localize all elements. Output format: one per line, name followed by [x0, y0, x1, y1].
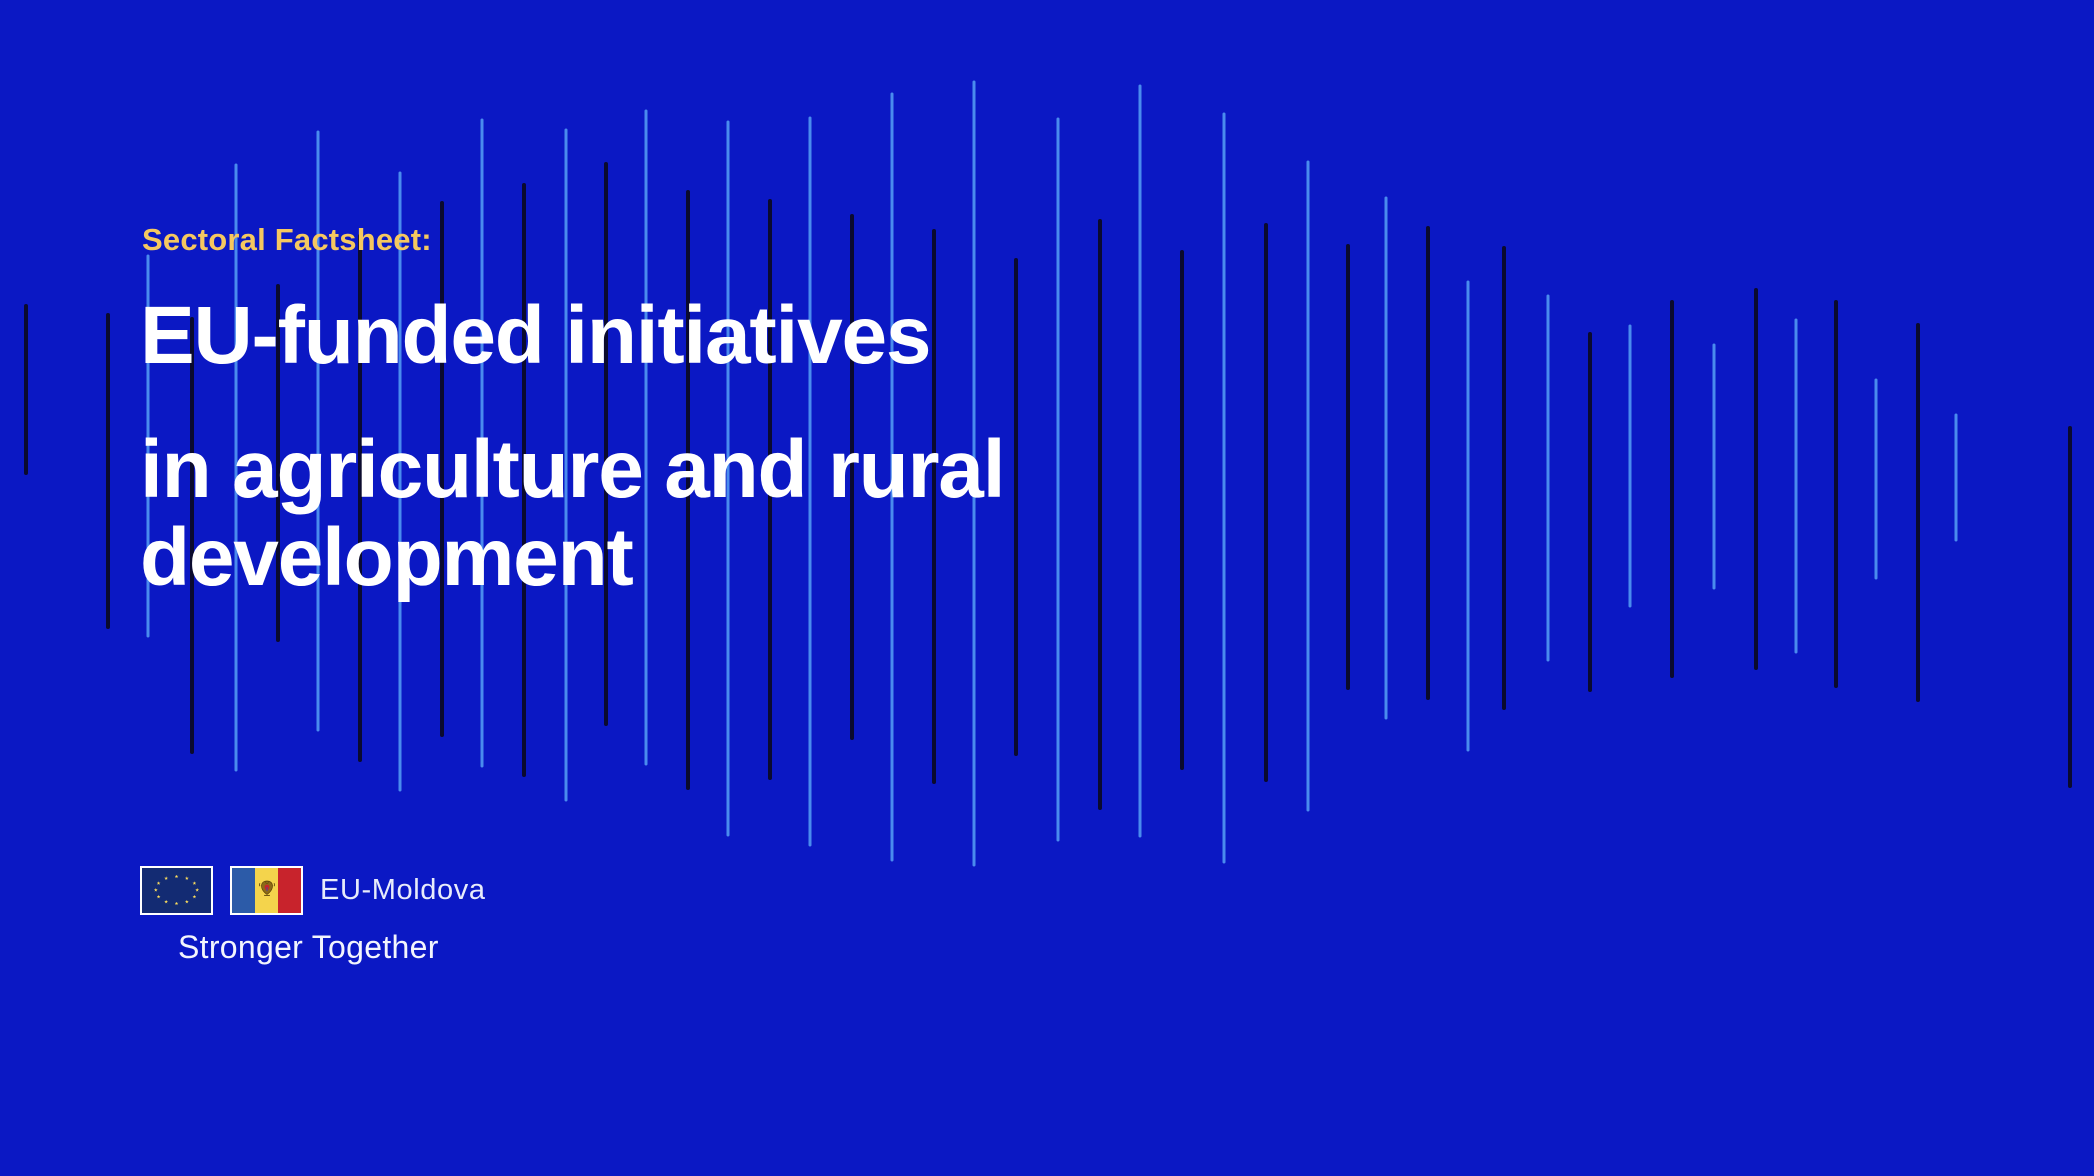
eu-flag-icon: [140, 866, 213, 915]
moldova-coat-of-arms-icon: [258, 880, 275, 900]
logo-tagline-label: Stronger Together: [178, 929, 660, 966]
page-title-line-3: development: [140, 517, 1540, 599]
eu-star-icon: [175, 902, 179, 906]
eu-star-icon: [185, 900, 189, 904]
eu-star-icon: [157, 895, 161, 899]
eu-star-icon: [154, 888, 158, 892]
eu-star-icon: [192, 881, 196, 885]
moldova-flag-icon: [230, 866, 303, 915]
eu-moldova-logo: EU-Moldova Stronger Together: [140, 864, 660, 966]
eyebrow-label: Sectoral Factsheet:: [142, 222, 432, 258]
eu-star-icon: [185, 876, 189, 880]
logo-row: EU-Moldova: [140, 864, 660, 916]
factsheet-cover-slide: Sectoral Factsheet: EU-funded initiative…: [0, 0, 2094, 1176]
eu-star-icon: [192, 895, 196, 899]
page-title-line-2: in agriculture and rural: [140, 429, 1540, 511]
eu-star-icon: [175, 875, 179, 879]
logo-name-label: EU-Moldova: [320, 874, 486, 907]
eu-star-icon: [164, 900, 168, 904]
eu-star-icon: [195, 888, 199, 892]
eu-star-icon: [164, 876, 168, 880]
page-title-line-1: EU-funded initiatives: [140, 295, 1540, 377]
cover-content: Sectoral Factsheet: EU-funded initiative…: [0, 0, 2094, 1176]
eu-star-icon: [157, 881, 161, 885]
page-title: EU-funded initiatives in agriculture and…: [140, 295, 1540, 599]
